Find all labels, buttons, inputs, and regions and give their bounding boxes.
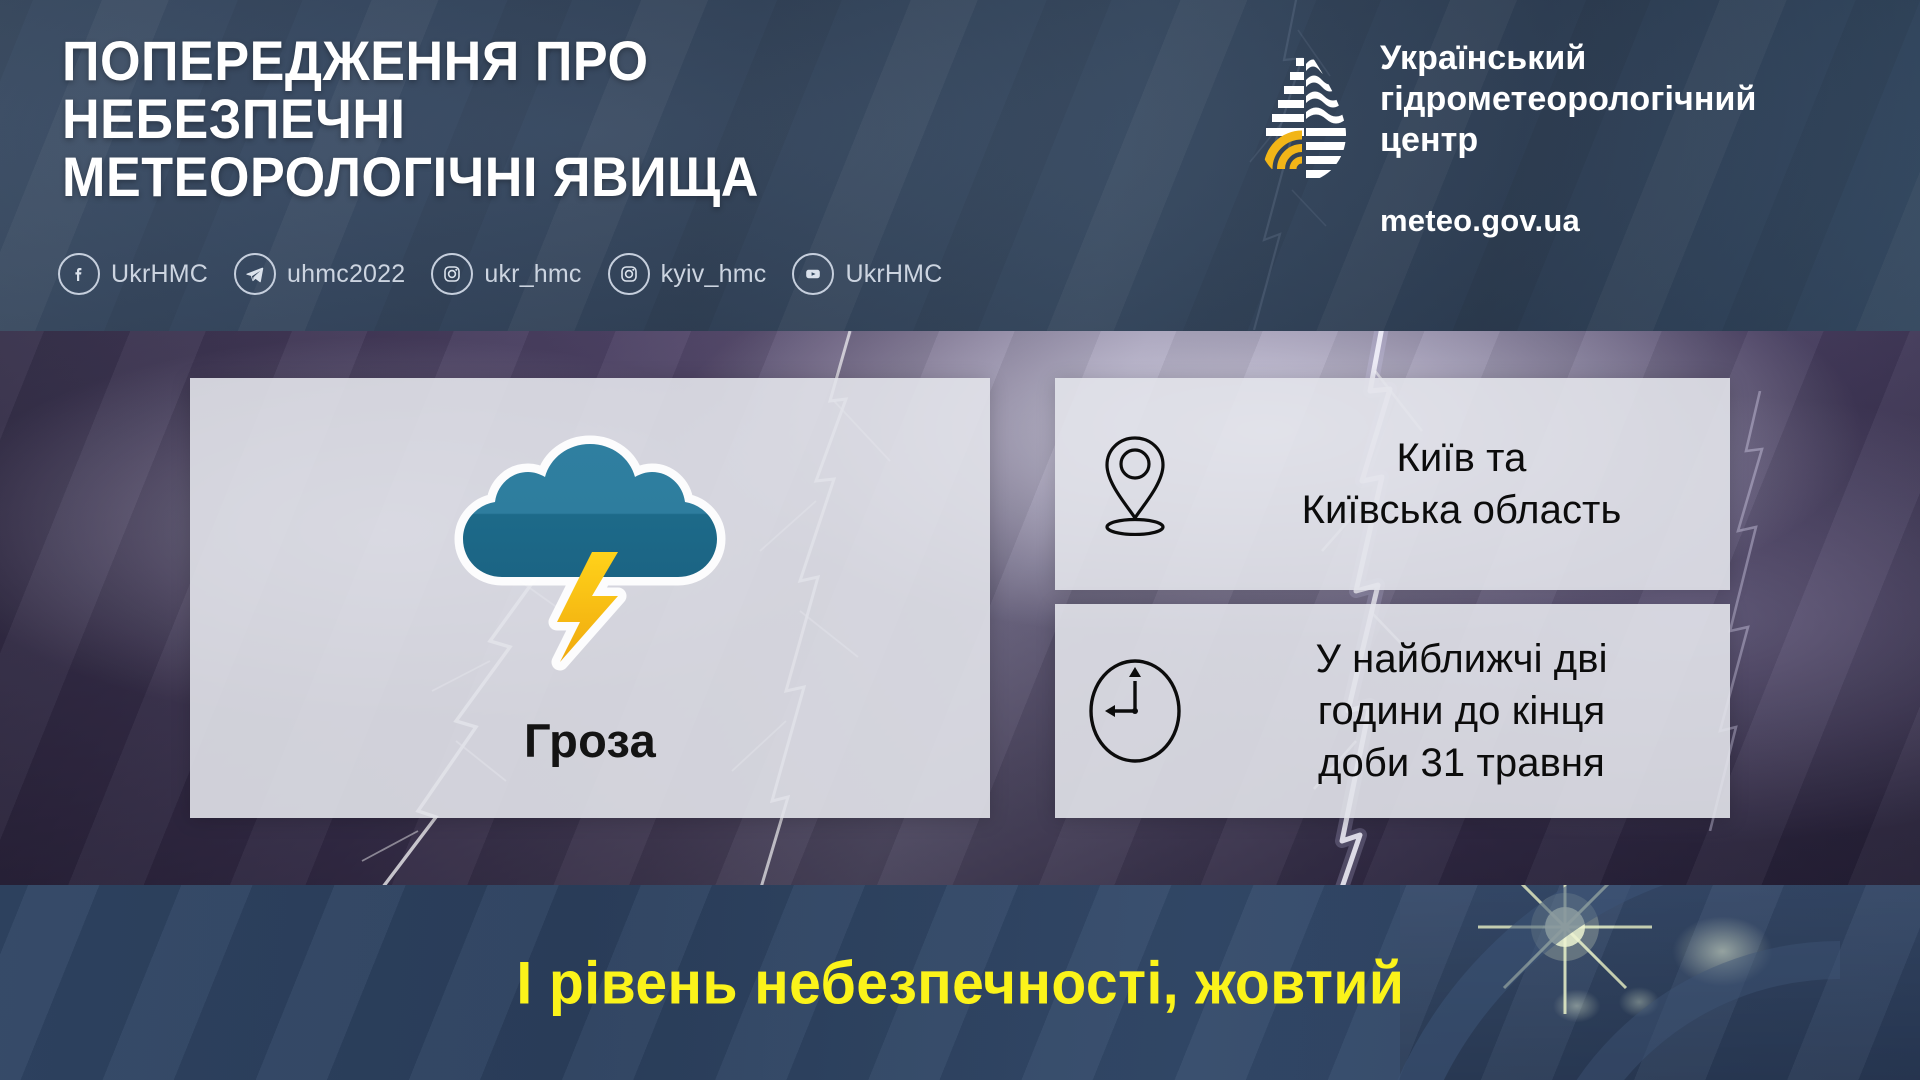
organization-name: Український гідрометеорологічний центр	[1380, 38, 1757, 161]
uhmc-waterdrop-logo	[1252, 40, 1352, 185]
clock-icon	[1083, 653, 1187, 769]
danger-level-label: І рівень небезпечності, жовтий	[516, 948, 1404, 1017]
period-icon-wrap	[1055, 653, 1215, 769]
social-label-facebook: UkrHMC	[111, 260, 208, 289]
social-label-youtube: UkrHMC	[845, 260, 942, 289]
footer-banner: І рівень небезпечності, жовтий	[0, 885, 1920, 1080]
social-link-instagram-ukr[interactable]: ukr_hmc	[431, 253, 581, 295]
social-link-telegram[interactable]: uhmc2022	[234, 253, 405, 295]
phenomenon-label: Гроза	[190, 713, 990, 768]
instagram-icon	[431, 253, 473, 295]
social-label-instagram-ukr: ukr_hmc	[484, 260, 581, 289]
region-text: Київ та Київська область	[1215, 432, 1730, 536]
facebook-icon	[58, 253, 100, 295]
social-link-facebook[interactable]: UkrHMC	[58, 253, 208, 295]
region-icon-wrap	[1055, 432, 1215, 536]
phenomenon-card: Гроза	[190, 378, 990, 818]
period-card: У найближчі дві години до кінця доби 31 …	[1055, 604, 1730, 818]
period-text: У найближчі дві години до кінця доби 31 …	[1215, 633, 1730, 789]
social-link-youtube[interactable]: UkrHMC	[792, 253, 942, 295]
danger-level-text: І рівень небезпечності, жовтий	[0, 948, 1920, 1017]
weather-warning-infographic: ПОПЕРЕДЖЕННЯ ПРО НЕБЕЗПЕЧНІ МЕТЕОРОЛОГІЧ…	[0, 0, 1920, 1080]
social-label-instagram-kyiv: kyiv_hmc	[661, 260, 767, 289]
telegram-icon	[234, 253, 276, 295]
thunderstorm-cloud-icon	[440, 424, 740, 679]
social-link-instagram-kyiv[interactable]: kyiv_hmc	[608, 253, 767, 295]
social-label-telegram: uhmc2022	[287, 260, 405, 289]
location-pin-icon	[1099, 432, 1171, 536]
social-links-row: UkrHMC uhmc2022 ukr_hmc	[58, 253, 968, 295]
page-title: ПОПЕРЕДЖЕННЯ ПРО НЕБЕЗПЕЧНІ МЕТЕОРОЛОГІЧ…	[62, 32, 992, 206]
organization-website[interactable]: meteo.gov.ua	[1380, 203, 1580, 239]
youtube-icon	[792, 253, 834, 295]
region-card: Київ та Київська область	[1055, 378, 1730, 590]
header-banner: ПОПЕРЕДЖЕННЯ ПРО НЕБЕЗПЕЧНІ МЕТЕОРОЛОГІЧ…	[0, 0, 1920, 331]
instagram-icon	[608, 253, 650, 295]
